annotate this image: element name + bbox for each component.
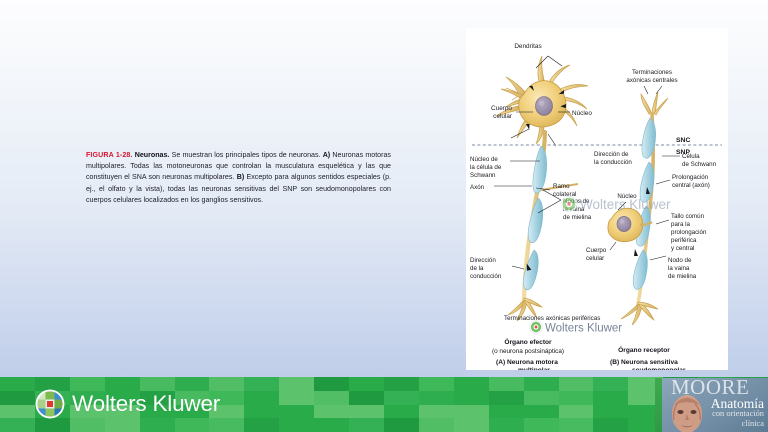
label-axon: Axón — [470, 184, 485, 191]
watermark-text: Wolters Kluwer — [580, 197, 671, 212]
neuron-diagram: Dendritas Cuerpo celular Núcleo SNC SNP — [466, 28, 728, 370]
svg-text:Schwann: Schwann — [470, 172, 496, 179]
label-direccion-conduccion-a: Dirección — [470, 257, 496, 264]
label-ramo-colateral: Ramo — [553, 183, 570, 190]
label-panel-b-2: seudomonopolar — [632, 367, 686, 370]
label-terminaciones-perifericas: Terminaciones axónicas periféricas — [504, 315, 600, 322]
label-nucleo-a: Núcleo — [572, 110, 592, 117]
svg-text:celular: celular — [586, 255, 604, 262]
cover-left-strip — [655, 378, 662, 432]
svg-text:celular: celular — [493, 113, 513, 120]
label-celula-schwann: Célula — [682, 153, 700, 160]
label-panel-b-1: (B) Neurona sensitiva — [610, 359, 678, 366]
brand-bar: Wolters Kluwer MOORE Anatomía con orient… — [0, 377, 768, 432]
svg-text:la vaina: la vaina — [668, 265, 690, 272]
wolters-kluwer-logo-icon — [35, 389, 65, 419]
wolters-kluwer-brand: Wolters Kluwer — [35, 389, 220, 419]
label-snc: SNC — [676, 137, 690, 144]
book-subline-1: con orientación — [712, 409, 764, 418]
label-tallo-comun: Tallo común — [671, 213, 705, 220]
svg-text:periférica: periférica — [671, 237, 697, 244]
book-subline-2: clínica — [742, 419, 764, 428]
label-cuerpo-celular-a: Cuerpo — [491, 105, 512, 112]
svg-text:la célula de: la célula de — [470, 164, 502, 171]
nucleus-b-shape — [617, 216, 631, 231]
label-direccion-conduccion-b: Dirección de — [594, 151, 629, 158]
label-organo-receptor: Órgano receptor — [618, 345, 670, 354]
figure-title: Neuronas. — [135, 151, 170, 159]
svg-text:prolongación: prolongación — [671, 229, 707, 236]
label-terminaciones-centrales: Terminaciones — [632, 69, 672, 76]
svg-text:conducción: conducción — [470, 273, 502, 280]
svg-text:la conducción: la conducción — [594, 159, 632, 166]
svg-text:para la: para la — [671, 221, 690, 228]
figure-caption: FIGURA 1-28. Neuronas. Se muestran los p… — [86, 150, 391, 206]
svg-text:de Schwann: de Schwann — [682, 161, 717, 168]
label-nucleo-schwann: Núcleo de — [470, 156, 498, 163]
svg-text:de la: de la — [470, 265, 484, 272]
label-cuerpo-celular-b: Cuerpo — [586, 247, 607, 254]
svg-text:axónicas centrales: axónicas centrales — [626, 77, 677, 84]
label-organo-efector: Órgano efector — [504, 337, 552, 346]
label-organo-efector-sub: (o neurona postsináptica) — [492, 348, 564, 355]
label-dendritas: Dendritas — [514, 43, 541, 50]
figure-image-panel: Dendritas Cuerpo celular Núcleo SNC SNP — [466, 28, 728, 370]
svg-text:y central: y central — [671, 245, 694, 252]
svg-text:de mielina: de mielina — [563, 214, 592, 221]
book-cover-thumbnail: MOORE Anatomía con orientación clínica — [655, 378, 768, 432]
label-prolongacion-central: Prolongación — [672, 174, 709, 181]
label-nodo-mielina-b: Nodo de — [668, 257, 692, 264]
svg-text:de mielina: de mielina — [668, 273, 697, 280]
figure-number: FIGURA 1-28. — [86, 151, 133, 159]
svg-text:Wolters Kluwer: Wolters Kluwer — [545, 323, 622, 335]
nucleus-a-shape — [536, 97, 553, 116]
label-panel-a-2: multipolar — [518, 367, 550, 370]
caption-intro: Se muestran los principales tipos de neu… — [169, 151, 322, 159]
label-panel-a-1: (A) Neurona motora — [496, 359, 558, 366]
slide-canvas: FIGURA 1-28. Neuronas. Se muestran los p… — [0, 0, 768, 432]
wolters-kluwer-wordmark: Wolters Kluwer — [72, 391, 220, 417]
svg-text:central (axón): central (axón) — [672, 182, 710, 189]
